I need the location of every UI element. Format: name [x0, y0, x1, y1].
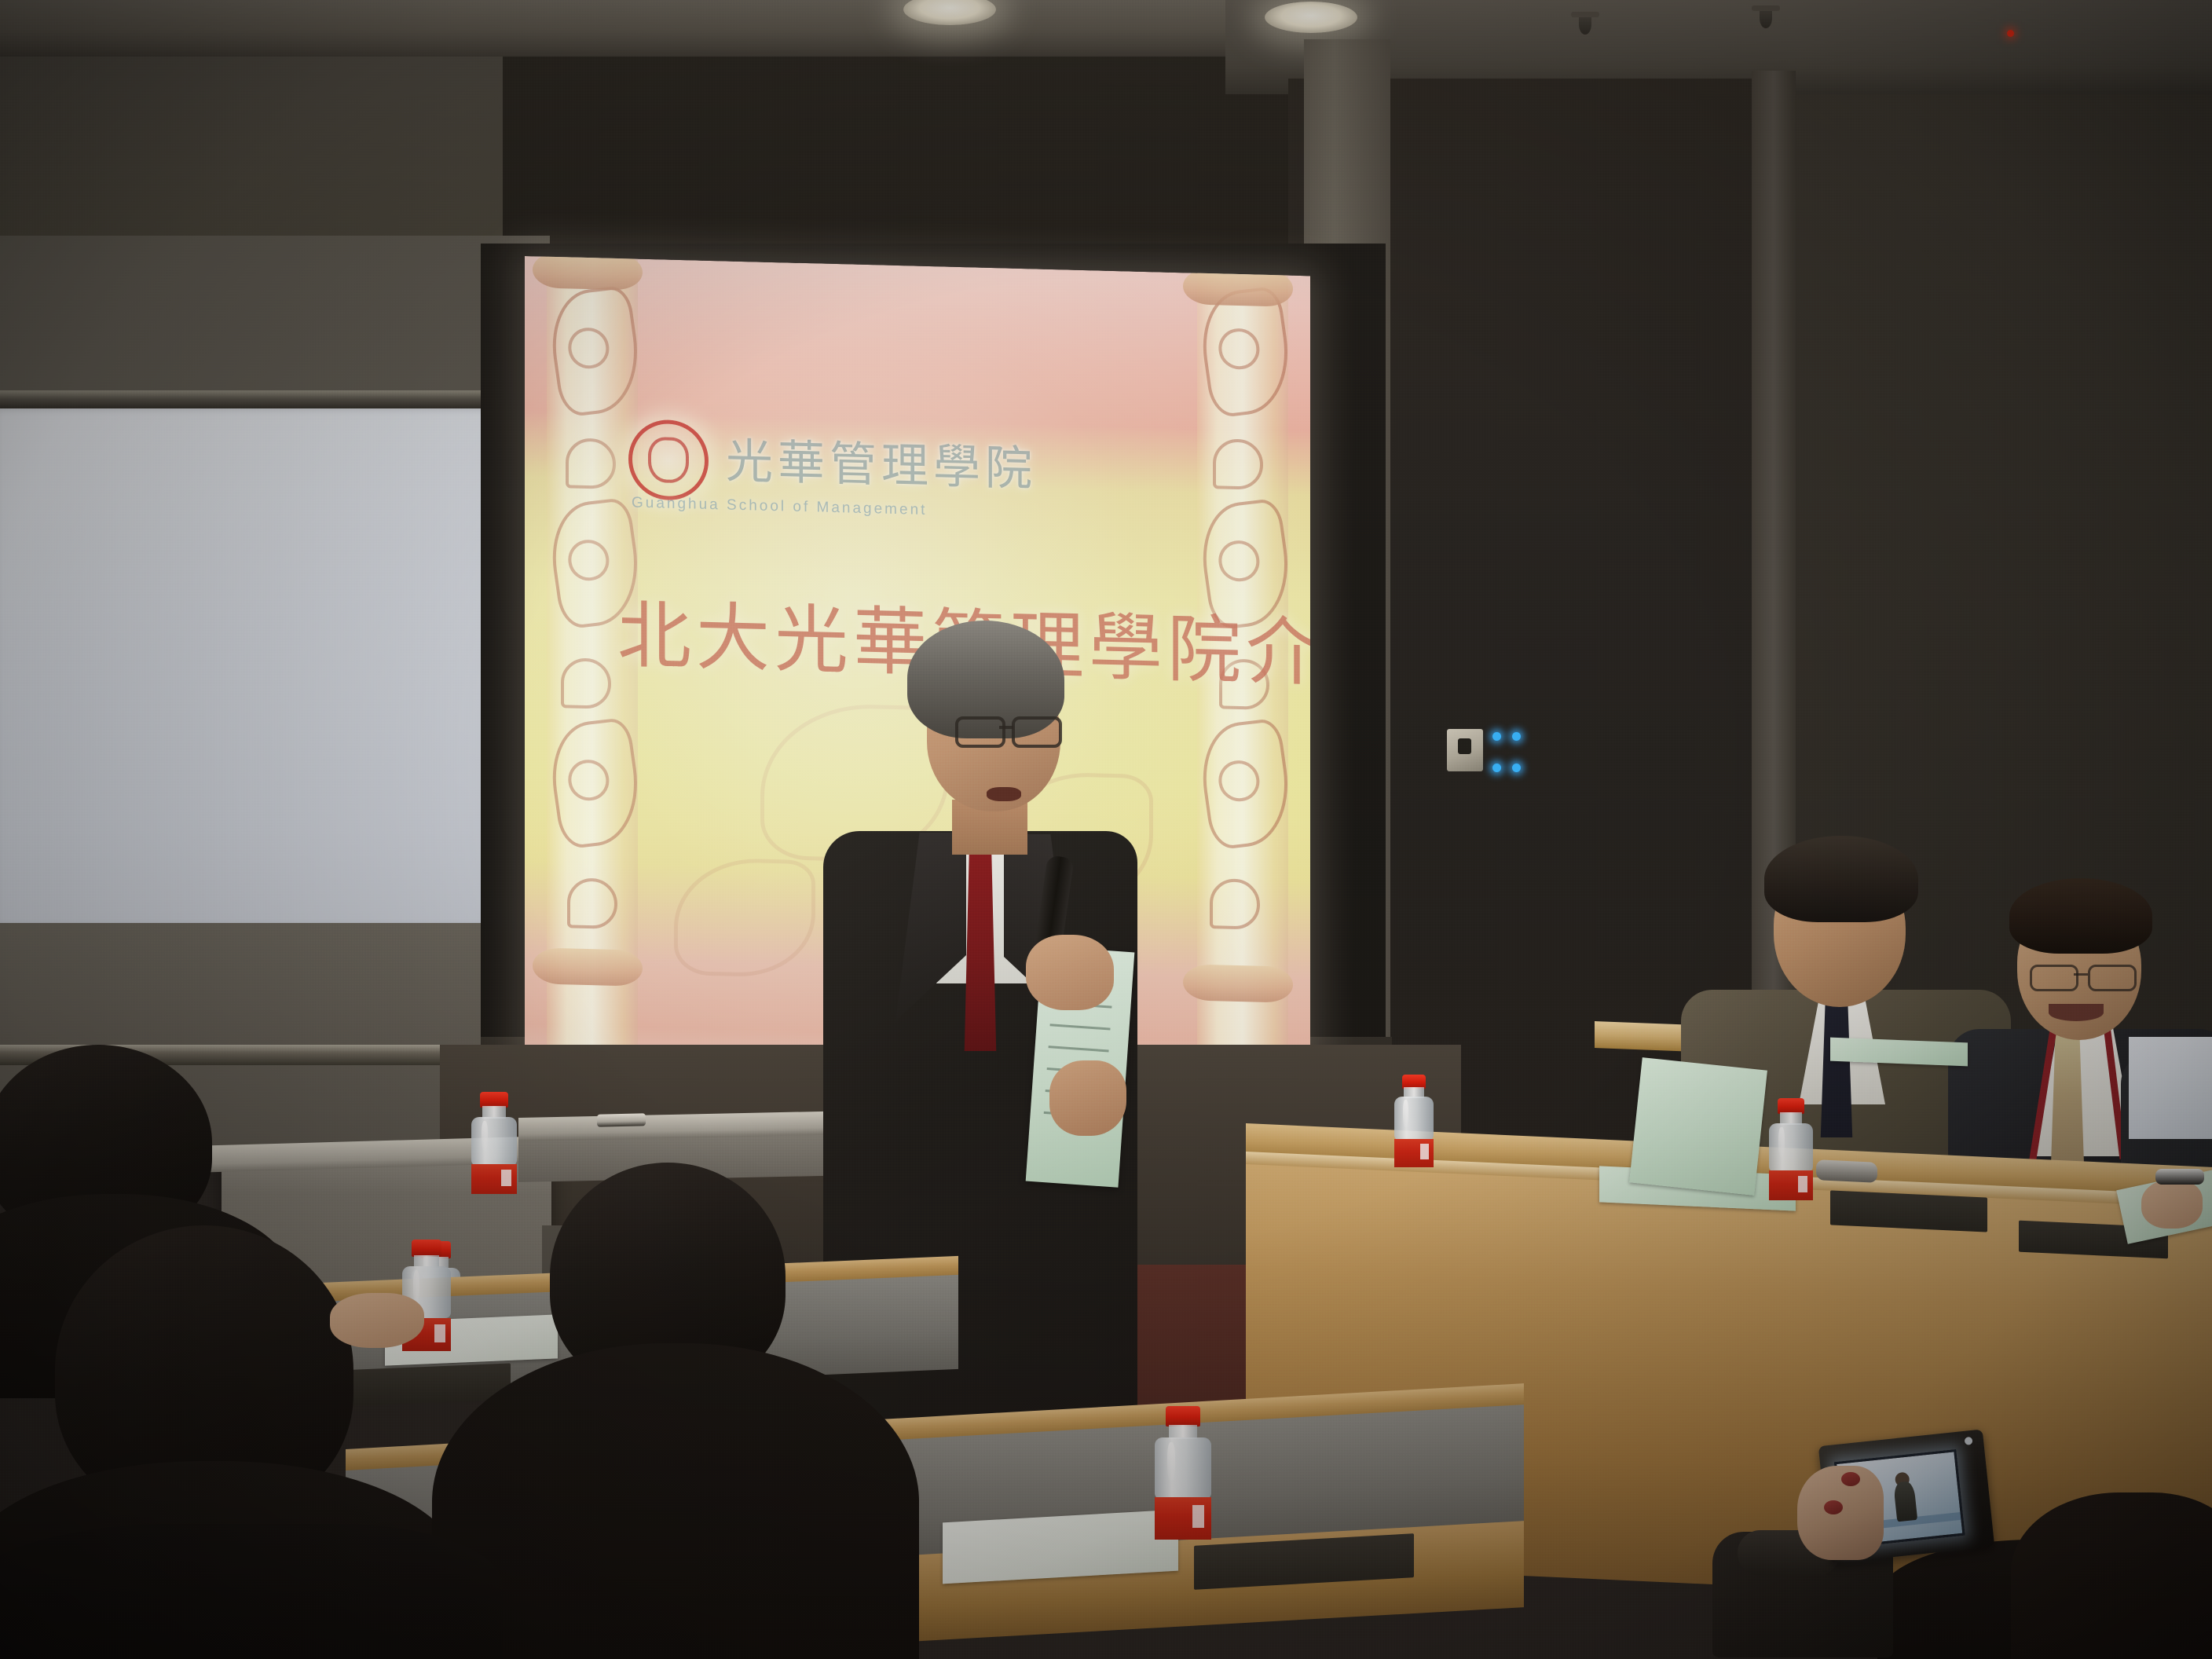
- ceiling-indicator-led: [2007, 30, 2014, 37]
- bottle-highlight: [1403, 1100, 1408, 1127]
- panelist-held-handout: [1629, 1057, 1767, 1196]
- glasses-lens: [955, 716, 1005, 748]
- speaker-hand: [1026, 935, 1114, 1010]
- bottle-highlight: [1778, 1127, 1785, 1157]
- sprinkler-head-icon: [1579, 14, 1591, 35]
- audience-member: [463, 1163, 872, 1659]
- glasses-lens: [2088, 965, 2137, 991]
- bottle-cap: [1166, 1406, 1200, 1426]
- blue-indicator-led: [1512, 732, 1521, 741]
- panelist-2-glasses: [2030, 965, 2140, 988]
- speaker-glasses: [955, 716, 1065, 743]
- presenter-remote[interactable]: [597, 1113, 646, 1126]
- bottle-body: [1394, 1097, 1434, 1141]
- bottle-cap: [480, 1092, 508, 1108]
- lecture-hall-photo: 光華管理學院 Guanghua School of Management 北大光…: [0, 0, 2212, 1659]
- audience-hand: [330, 1293, 424, 1348]
- photographer-hand: [1712, 1437, 1948, 1657]
- photographer-fingers: [1797, 1466, 1884, 1560]
- water-bottle[interactable]: [1394, 1075, 1434, 1167]
- sprinkler-head-icon: [1760, 8, 1772, 28]
- audience-head: [2011, 1492, 2212, 1659]
- desk-microphone[interactable]: [1816, 1159, 1877, 1183]
- blue-indicator-led: [1492, 764, 1501, 772]
- panelist-1-hair: [1764, 836, 1918, 922]
- attendee-hand: [2141, 1180, 2203, 1229]
- bottle-body: [1769, 1123, 1813, 1172]
- glasses-bridge: [999, 726, 1013, 729]
- whiteboard: [0, 408, 503, 927]
- water-bottle[interactable]: [1155, 1406, 1211, 1540]
- audience-shoulders: [432, 1343, 919, 1659]
- speaker-mouth: [987, 787, 1021, 801]
- bottle-highlight: [482, 1121, 488, 1151]
- blue-indicator-led: [1492, 732, 1501, 741]
- ceiling-downlight: [1265, 2, 1357, 33]
- panelist-3-shirt: [2129, 1037, 2212, 1139]
- whiteboard-rail: [0, 390, 518, 409]
- camera-preview-speaker: [1893, 1481, 1917, 1522]
- bottle-body: [1155, 1437, 1211, 1499]
- fingernail: [1841, 1472, 1860, 1486]
- camera-indicator-led: [1965, 1437, 1973, 1445]
- panelist-2-smile: [2049, 1004, 2104, 1021]
- bottle-label: [1394, 1139, 1434, 1167]
- bottle-label: [1155, 1497, 1211, 1540]
- water-bottle[interactable]: [1769, 1098, 1813, 1200]
- panelist-2-hair: [2009, 878, 2152, 954]
- speaker-hand: [1049, 1060, 1126, 1136]
- bottle-cap: [412, 1240, 441, 1257]
- wall-indicator-led-panel: [1491, 731, 1527, 776]
- blue-indicator-led: [1512, 764, 1521, 772]
- university-seal-icon: [628, 419, 709, 501]
- glasses-lens: [2030, 965, 2078, 991]
- panel-desk-cable-inset: [1830, 1190, 1987, 1232]
- wristwatch: [2155, 1169, 2204, 1185]
- bottle-label: [1769, 1170, 1813, 1200]
- glasses-lens: [1012, 716, 1062, 748]
- glasses-bridge: [2074, 973, 2088, 976]
- wall-switch-button[interactable]: [1458, 738, 1471, 754]
- bottle-body: [471, 1117, 517, 1166]
- slide-logo-chinese: 光華管理學院: [726, 438, 1037, 493]
- bottle-highlight: [1167, 1442, 1175, 1480]
- bottle-cap: [1778, 1098, 1804, 1114]
- bottle-highlight: [413, 1270, 420, 1302]
- fingernail: [1824, 1500, 1843, 1514]
- audience-member: [0, 1524, 503, 1659]
